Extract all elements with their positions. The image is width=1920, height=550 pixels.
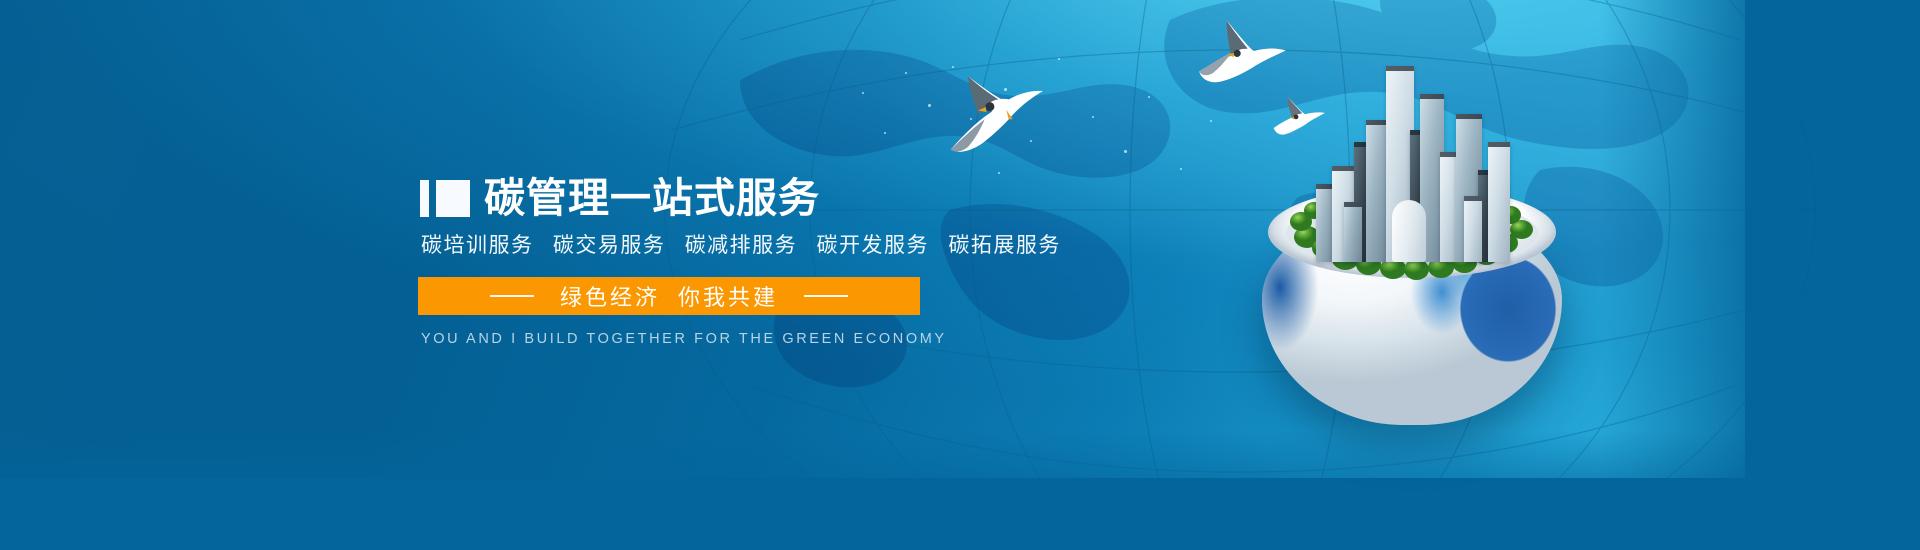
english-tagline: YOU AND I BUILD TOGETHER FOR THE GREEN E… <box>421 331 1040 347</box>
slogan-part-1: 绿色经济 <box>560 285 660 310</box>
slogan-left-dash-icon <box>490 295 534 297</box>
slogan-part-2: 你我共建 <box>678 285 778 310</box>
slogan-right-dash-icon <box>804 295 848 297</box>
logo-square-mark-icon <box>436 180 470 217</box>
service-item-2: 碳交易服务 <box>553 234 666 257</box>
service-list: 碳培训服务 碳交易服务 碳减排服务 碳开发服务 碳拓展服务 <box>421 229 1040 259</box>
seagull-large-icon <box>937 58 1063 158</box>
background-bottom-fade <box>0 430 1760 550</box>
seagull-medium-icon <box>1191 13 1294 97</box>
brand-logo-mark <box>420 180 470 217</box>
logo-bar-mark-icon <box>420 180 429 217</box>
slogan-text: 绿色经济你我共建 <box>560 280 778 312</box>
service-item-1: 碳培训服务 <box>421 234 534 257</box>
globe-city-illustration <box>1262 140 1562 440</box>
title-row: 碳管理一站式服务 <box>420 178 1040 219</box>
dome-tower <box>1392 200 1426 262</box>
service-item-3: 碳减排服务 <box>685 234 798 257</box>
3d-city-skyline <box>1314 32 1514 262</box>
background-right-fade <box>1600 0 1800 478</box>
service-item-5: 碳拓展服务 <box>948 234 1061 257</box>
page-title: 碳管理一站式服务 <box>484 178 820 219</box>
service-item-4: 碳开发服务 <box>817 234 930 257</box>
banner-copy: 碳管理一站式服务 碳培训服务 碳交易服务 碳减排服务 碳开发服务 碳拓展服务 绿… <box>420 178 1040 347</box>
slogan-banner: 绿色经济你我共建 <box>418 277 920 315</box>
hero-banner: 碳管理一站式服务 碳培训服务 碳交易服务 碳减排服务 碳开发服务 碳拓展服务 绿… <box>0 0 1920 550</box>
